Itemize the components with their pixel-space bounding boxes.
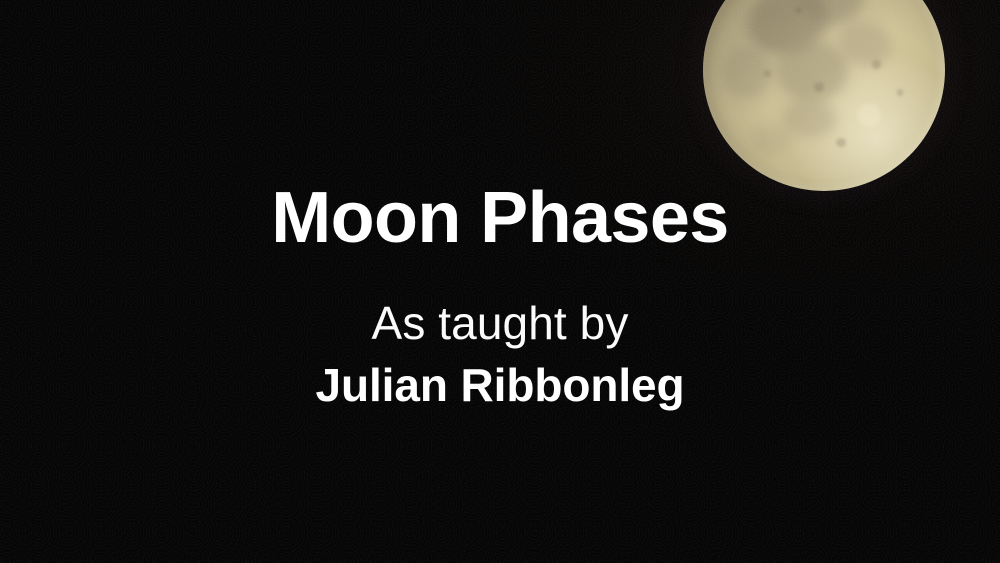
crater bbox=[814, 82, 824, 92]
title-slide: Moon Phases As taught by Julian Ribbonle… bbox=[0, 0, 1000, 563]
page-title: Moon Phases bbox=[0, 182, 1000, 254]
subtitle-lead: As taught by bbox=[0, 300, 1000, 346]
mare-region bbox=[783, 99, 836, 138]
mare-region bbox=[776, 41, 849, 102]
crater bbox=[858, 104, 880, 126]
crater bbox=[836, 138, 846, 148]
mare-region bbox=[751, 123, 790, 154]
moon-image bbox=[703, 0, 945, 191]
crater bbox=[764, 70, 771, 77]
crater bbox=[872, 60, 880, 68]
crater bbox=[897, 89, 903, 95]
title-text-block: Moon Phases As taught by Julian Ribbonle… bbox=[0, 182, 1000, 408]
subtitle-group: As taught by Julian Ribbonleg bbox=[0, 300, 1000, 408]
presenter-name: Julian Ribbonleg bbox=[0, 362, 1000, 408]
